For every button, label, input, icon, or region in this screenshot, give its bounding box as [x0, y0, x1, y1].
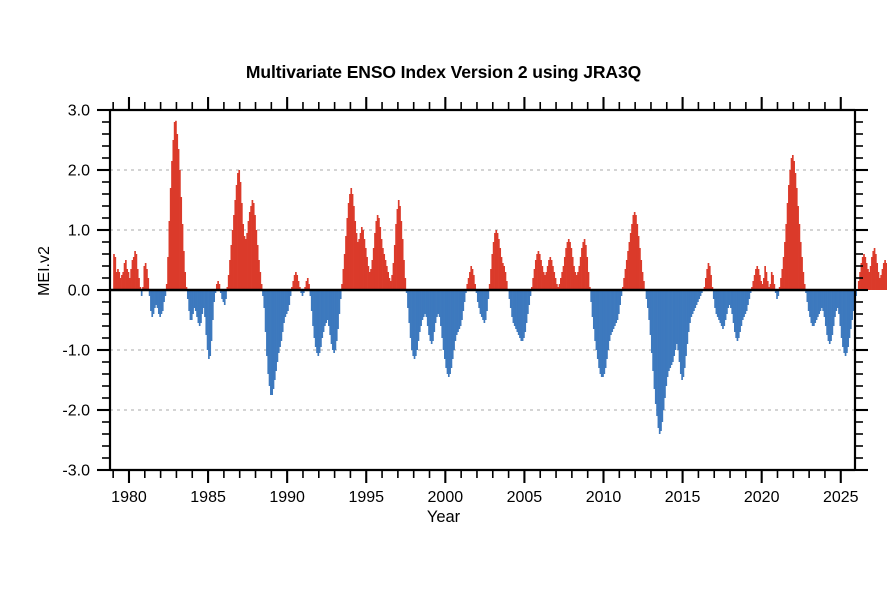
mei-timeseries-plot: -3.0-2.0-1.00.01.02.03.01980198519901995… [0, 0, 887, 603]
y-tick-label: 3.0 [68, 103, 90, 120]
bar [225, 290, 227, 299]
y-tick-label: 2.0 [68, 163, 90, 180]
bar [643, 281, 645, 290]
bar [340, 290, 342, 299]
x-tick-label: 2025 [823, 489, 859, 506]
bar [147, 278, 149, 290]
y-tick-label: -1.0 [62, 343, 90, 360]
bar [488, 290, 490, 299]
x-tick-label: 2000 [428, 489, 464, 506]
x-tick-label: 1985 [190, 489, 226, 506]
x-tick-label: 2010 [586, 489, 622, 506]
y-tick-label: -2.0 [62, 403, 90, 420]
y-tick-label: 1.0 [68, 223, 90, 240]
x-tick-label: 2005 [507, 489, 543, 506]
bar-series [113, 121, 887, 434]
bar [404, 278, 406, 290]
bar [506, 281, 508, 290]
chart-figure: Multivariate ENSO Index Version 2 using … [0, 0, 887, 603]
x-tick-label: 2015 [665, 489, 701, 506]
x-tick-label: 1980 [111, 489, 147, 506]
y-tick-label: -3.0 [62, 463, 90, 480]
x-tick-label: 1990 [269, 489, 305, 506]
x-tick-label: 2020 [744, 489, 780, 506]
x-tick-label: 1995 [348, 489, 384, 506]
y-tick-label: 0.0 [68, 283, 90, 300]
